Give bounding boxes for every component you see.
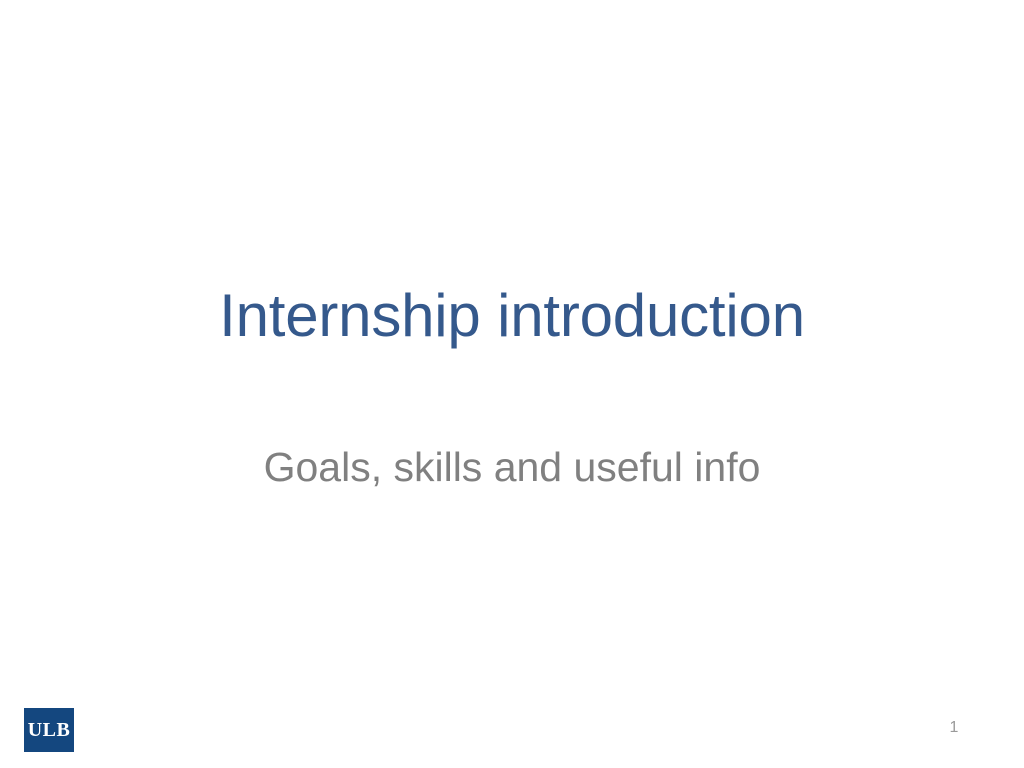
- ulb-logo-text: ULB: [28, 720, 71, 740]
- ulb-logo: ULB: [24, 708, 74, 752]
- page-number: 1: [939, 720, 969, 736]
- title-placeholder: Internship introduction: [0, 282, 1024, 349]
- presentation-slide: Internship introduction Goals, skills an…: [0, 0, 1024, 768]
- slide-subtitle: Goals, skills and useful info: [0, 444, 1024, 491]
- slide-title: Internship introduction: [0, 282, 1024, 349]
- subtitle-placeholder: Goals, skills and useful info: [0, 444, 1024, 491]
